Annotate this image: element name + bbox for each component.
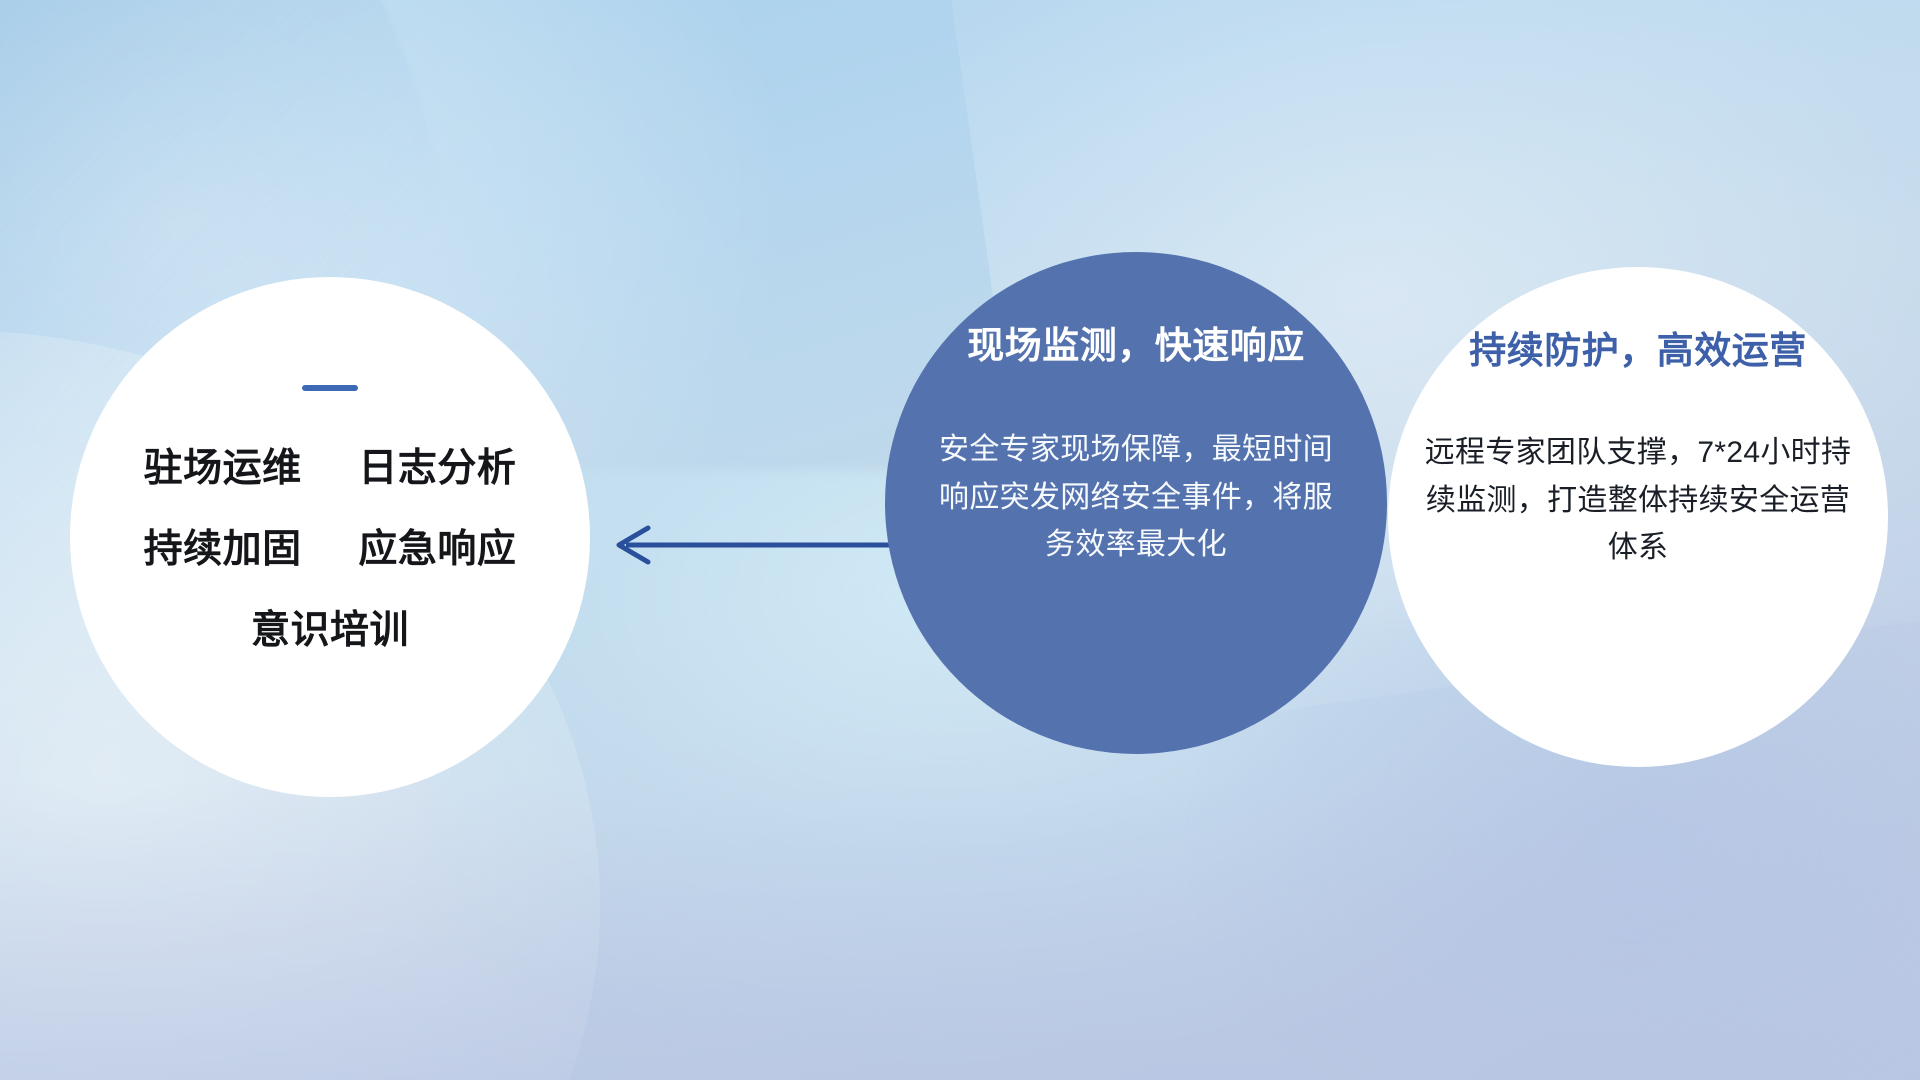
background-bottom-vignette (0, 780, 1920, 1080)
keyword-onsite-ops: 驻场运维 (144, 447, 302, 490)
node-field-monitor-body: 安全专家现场保障，最短时间响应突发网络安全事件，将服务效率最大化 (915, 426, 1357, 568)
node-onsite-ops[interactable]: 驻场运维 日志分析 持续加固 应急响应 意识培训 (70, 277, 590, 797)
left-pointing-arrow-icon (600, 512, 900, 576)
keyword-row-2: 持续加固 应急响应 (104, 530, 556, 569)
node-continuous-protect-content: 持续防护，高效运营 远程专家团队支撑，7*24小时持续监测，打造整体持续安全运营… (1388, 329, 1888, 572)
keyword-log-analysis: 日志分析 (358, 447, 516, 490)
slide-canvas: 驻场运维 日志分析 持续加固 应急响应 意识培训 现场监测，快速响应 安全专家现… (0, 0, 1920, 1080)
flow-arrow (600, 512, 900, 576)
node-continuous-protect-body: 远程专家团队支撑，7*24小时持续监测，打造整体持续安全运营体系 (1410, 429, 1866, 571)
node-continuous-protect-title: 持续防护，高效运营 (1410, 329, 1866, 373)
keyword-awareness-training: 意识培训 (251, 609, 409, 652)
node-field-monitor[interactable]: 现场监测，快速响应 安全专家现场保障，最短时间响应突发网络安全事件，将服务效率最… (885, 252, 1387, 754)
keyword-emergency-response: 应急响应 (358, 528, 516, 571)
node-continuous-protect[interactable]: 持续防护，高效运营 远程专家团队支撑，7*24小时持续监测，打造整体持续安全运营… (1388, 267, 1888, 767)
node-field-monitor-content: 现场监测，快速响应 安全专家现场保障，最短时间响应突发网络安全事件，将服务效率最… (885, 324, 1387, 569)
keyword-continuous-hardening: 持续加固 (144, 528, 302, 571)
node-onsite-ops-content: 驻场运维 日志分析 持续加固 应急响应 意识培训 (70, 385, 590, 650)
divider-dash (302, 385, 358, 391)
node-field-monitor-title: 现场监测，快速响应 (915, 324, 1357, 368)
keyword-row-1: 驻场运维 日志分析 (104, 449, 556, 488)
keyword-row-3: 意识培训 (104, 611, 556, 650)
